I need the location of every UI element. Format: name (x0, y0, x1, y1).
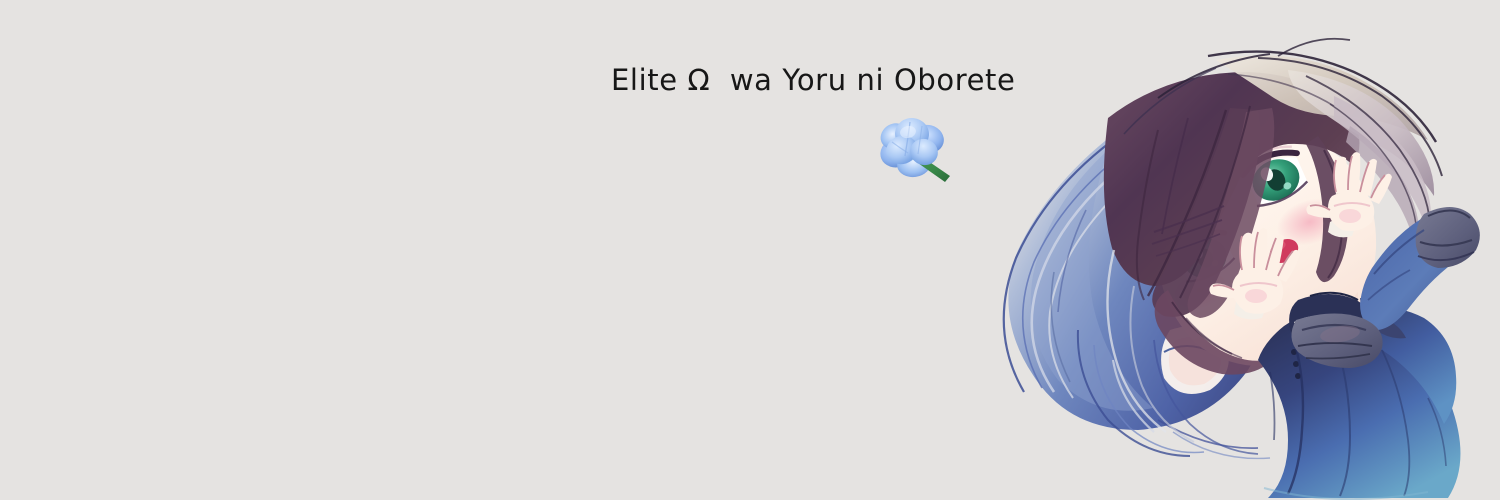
chibi-character-illustration (958, 0, 1500, 500)
page-title: Elite Ω wa Yoru ni Oborete (611, 60, 1015, 100)
blue-flower-icon (872, 112, 958, 190)
character-leg-upper (1360, 207, 1480, 330)
banner-container: Elite Ω wa Yoru ni Oborete (0, 0, 1500, 500)
